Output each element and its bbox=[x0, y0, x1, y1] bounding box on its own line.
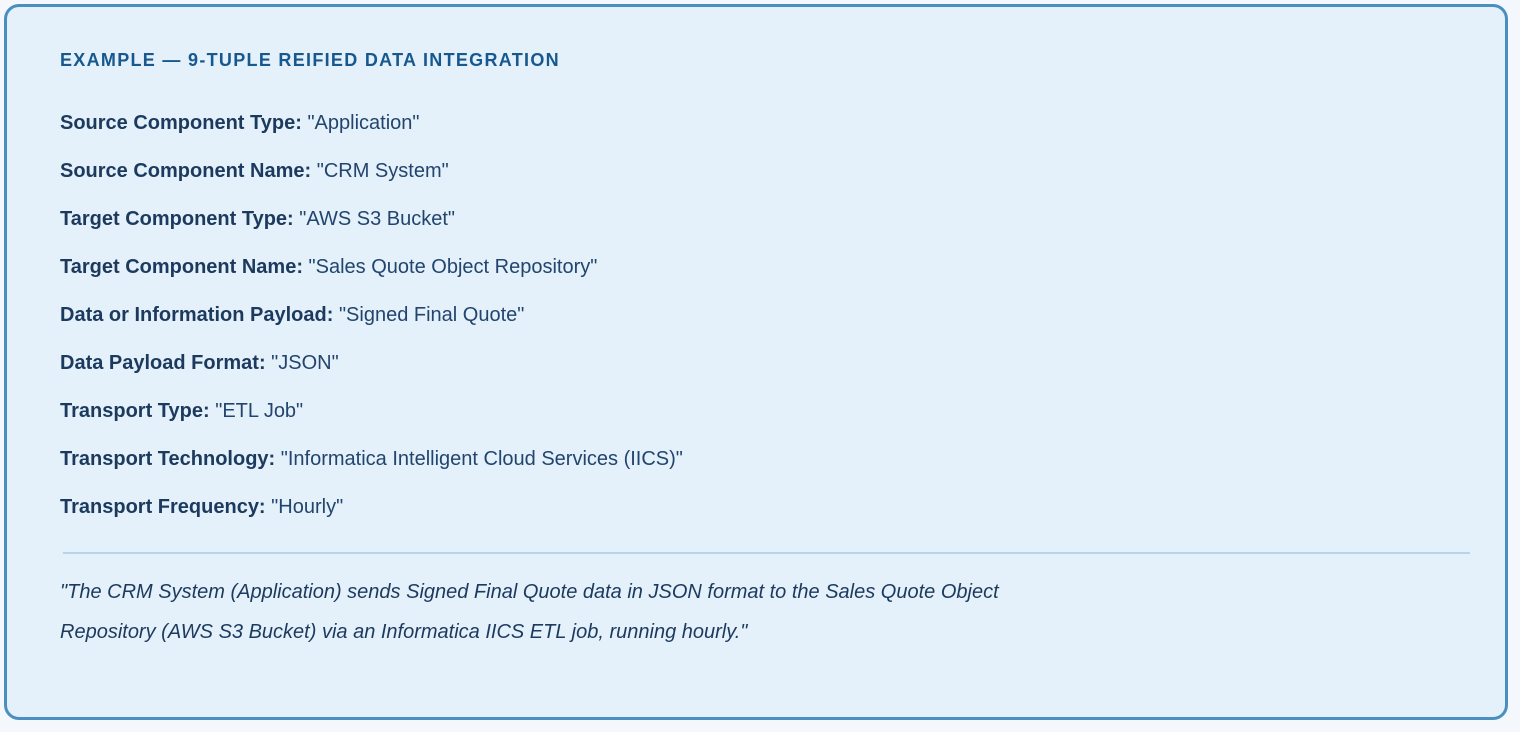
tuple-row: Data or Information Payload: "Signed Fin… bbox=[60, 291, 1465, 339]
tuple-field-value: "Hourly" bbox=[271, 496, 343, 518]
tuple-field-list: Source Component Type: "Application" Sou… bbox=[60, 99, 1465, 531]
tuple-field-value: "ETL Job" bbox=[215, 400, 303, 422]
tuple-row: Data Payload Format: "JSON" bbox=[60, 339, 1465, 387]
tuple-row: Source Component Name: "CRM System" bbox=[60, 147, 1465, 195]
example-callout-card: EXAMPLE — 9-TUPLE REIFIED DATA INTEGRATI… bbox=[4, 4, 1508, 720]
tuple-field-label: Target Component Name: bbox=[60, 256, 303, 278]
tuple-row: Transport Technology: "Informatica Intel… bbox=[60, 435, 1465, 483]
tuple-field-label: Data or Information Payload: bbox=[60, 304, 333, 326]
callout-heading: EXAMPLE — 9-TUPLE REIFIED DATA INTEGRATI… bbox=[60, 51, 1465, 69]
tuple-field-value: "JSON" bbox=[271, 352, 339, 374]
tuple-field-value: "CRM System" bbox=[317, 160, 449, 182]
tuple-row: Target Component Type: "AWS S3 Bucket" bbox=[60, 195, 1465, 243]
summary-sentence: "The CRM System (Application) sends Sign… bbox=[60, 572, 1000, 652]
section-divider bbox=[63, 552, 1470, 554]
tuple-field-value: "Informatica Intelligent Cloud Services … bbox=[281, 448, 683, 470]
tuple-field-label: Source Component Type: bbox=[60, 112, 302, 134]
tuple-field-label: Transport Type: bbox=[60, 400, 210, 422]
tuple-row: Transport Type: "ETL Job" bbox=[60, 387, 1465, 435]
tuple-field-value: "Sales Quote Object Repository" bbox=[309, 256, 598, 278]
tuple-field-label: Transport Technology: bbox=[60, 448, 275, 470]
tuple-field-label: Data Payload Format: bbox=[60, 352, 266, 374]
tuple-row: Target Component Name: "Sales Quote Obje… bbox=[60, 243, 1465, 291]
tuple-field-value: "AWS S3 Bucket" bbox=[299, 208, 455, 230]
tuple-row: Source Component Type: "Application" bbox=[60, 99, 1465, 147]
tuple-field-label: Transport Frequency: bbox=[60, 496, 266, 518]
tuple-field-label: Target Component Type: bbox=[60, 208, 294, 230]
tuple-field-value: "Application" bbox=[307, 112, 419, 134]
tuple-field-value: "Signed Final Quote" bbox=[339, 304, 524, 326]
tuple-field-label: Source Component Name: bbox=[60, 160, 311, 182]
tuple-row: Transport Frequency: "Hourly" bbox=[60, 483, 1465, 531]
